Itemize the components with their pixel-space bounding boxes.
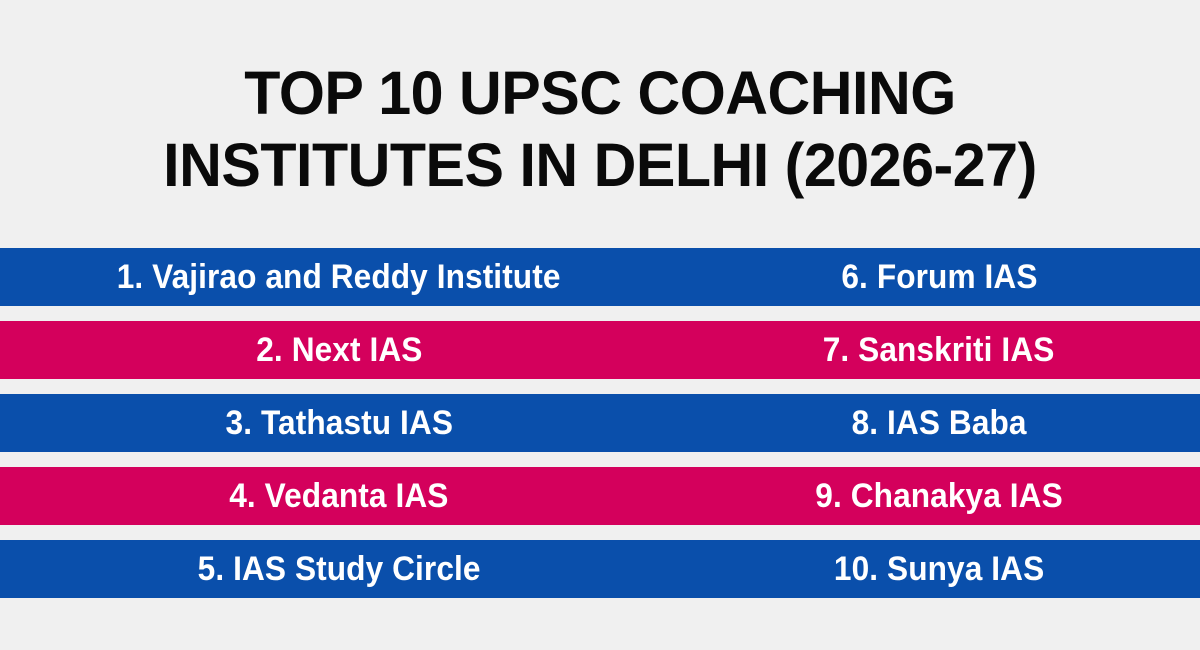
list-cell-right-3: 8. IAS Baba (678, 406, 1200, 440)
poster-root: TOP 10 UPSC COACHING INSTITUTES IN DELHI… (0, 0, 1200, 650)
list-cell-left-3: 3. Tathastu IAS (0, 406, 678, 440)
list-cell-left-2: 2. Next IAS (0, 333, 678, 367)
list-row-1: 1. Vajirao and Reddy Institute 6. Forum … (0, 248, 1200, 306)
list-cell-left-4: 4. Vedanta IAS (0, 479, 678, 513)
list-row-3: 3. Tathastu IAS 8. IAS Baba (0, 394, 1200, 452)
list-item-5: 5. IAS Study Circle (198, 552, 481, 586)
list-row-2: 2. Next IAS 7. Sanskriti IAS (0, 321, 1200, 379)
bottom-spacer (0, 624, 1200, 650)
list-cell-right-1: 6. Forum IAS (678, 260, 1200, 294)
institute-list: 1. Vajirao and Reddy Institute 6. Forum … (0, 248, 1200, 624)
list-item-4: 4. Vedanta IAS (229, 479, 448, 513)
list-item-2: 2. Next IAS (256, 333, 422, 367)
list-item-3: 3. Tathastu IAS (225, 406, 452, 440)
list-row-4: 4. Vedanta IAS 9. Chanakya IAS (0, 467, 1200, 525)
list-cell-right-2: 7. Sanskriti IAS (678, 333, 1200, 367)
list-item-7: 7. Sanskriti IAS (823, 333, 1055, 367)
page-title: TOP 10 UPSC COACHING INSTITUTES IN DELHI… (0, 0, 1200, 202)
list-cell-right-4: 9. Chanakya IAS (678, 479, 1200, 513)
list-item-1: 1. Vajirao and Reddy Institute (117, 260, 561, 294)
list-cell-right-5: 10. Sunya IAS (678, 552, 1200, 586)
list-item-8: 8. IAS Baba (851, 406, 1026, 440)
list-row-5: 5. IAS Study Circle 10. Sunya IAS (0, 540, 1200, 598)
list-cell-left-5: 5. IAS Study Circle (0, 552, 678, 586)
title-line-1: TOP 10 UPSC COACHING (57, 58, 1143, 130)
title-line-2: INSTITUTES IN DELHI (2026-27) (57, 130, 1143, 202)
list-cell-left-1: 1. Vajirao and Reddy Institute (0, 260, 678, 294)
list-item-9: 9. Chanakya IAS (815, 479, 1062, 513)
list-item-10: 10. Sunya IAS (834, 552, 1044, 586)
list-item-6: 6. Forum IAS (841, 260, 1037, 294)
